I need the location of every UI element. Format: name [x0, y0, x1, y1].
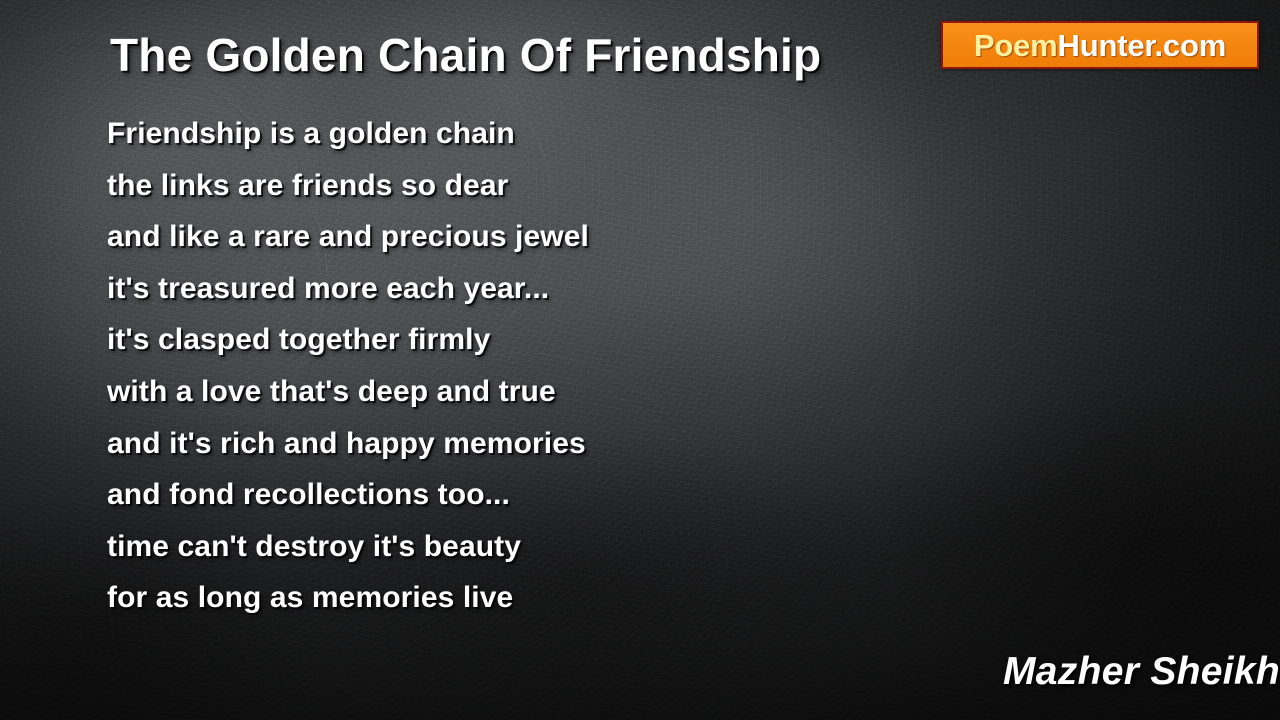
- poster-content: The Golden Chain Of Friendship PoemHunte…: [0, 0, 1280, 720]
- logo-text: PoemHunter.com: [974, 30, 1226, 61]
- poem-author: Mazher Sheikh: [1003, 650, 1280, 694]
- poem-line: it's treasured more each year...: [107, 263, 867, 315]
- poem-line: for as long as memories live: [107, 572, 867, 624]
- poem-line: the links are friends so dear: [107, 160, 867, 212]
- poem-line: and like a rare and precious jewel: [107, 211, 867, 263]
- poem-text-block: Friendship is a golden chain the links a…: [107, 108, 867, 624]
- poem-line: with a love that's deep and true: [107, 366, 867, 418]
- poem-line: and fond recollections too...: [107, 469, 867, 521]
- poem-poster: The Golden Chain Of Friendship PoemHunte…: [0, 0, 1280, 720]
- poem-line: and it's rich and happy memories: [107, 418, 867, 470]
- logo-text-primary: Poem: [974, 28, 1058, 63]
- logo-text-secondary: Hunter.com: [1058, 28, 1227, 63]
- poem-line: it's clasped together firmly: [107, 314, 867, 366]
- page-title: The Golden Chain Of Friendship: [110, 28, 821, 82]
- poemhunter-logo[interactable]: PoemHunter.com: [941, 21, 1259, 69]
- poem-line: time can't destroy it's beauty: [107, 521, 867, 573]
- poem-line: Friendship is a golden chain: [107, 108, 867, 160]
